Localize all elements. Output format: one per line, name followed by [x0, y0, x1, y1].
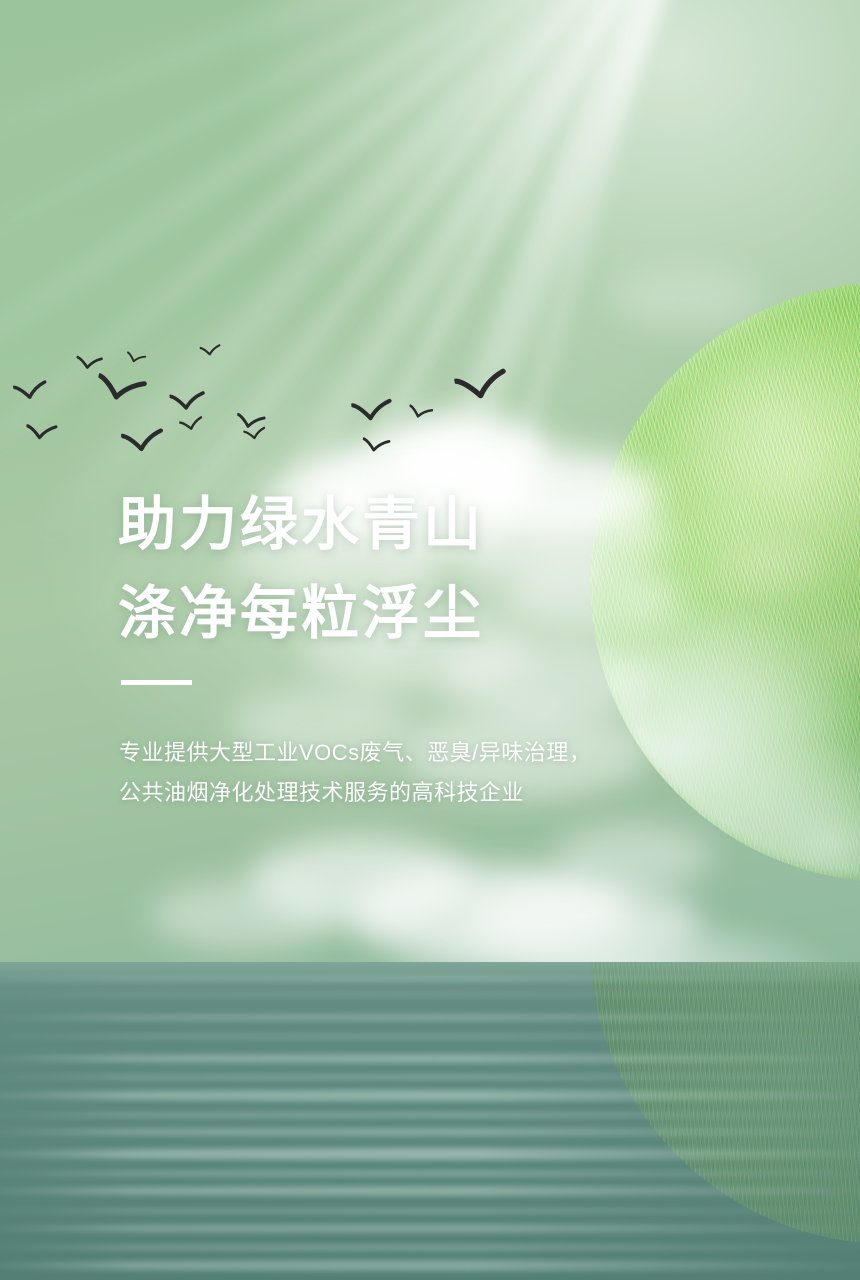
water-ripple-line [0, 1034, 860, 1039]
water-ripple-line [0, 1208, 860, 1214]
headline-line-1: 助力绿水青山 [118, 480, 738, 569]
headline-line-2: 涤净每粒浮尘 [118, 569, 738, 658]
water-ripple-line [0, 992, 860, 996]
white-rule-divider [121, 680, 192, 685]
water-ripple-line [0, 1148, 860, 1160]
water-ripple-line [0, 1128, 860, 1136]
water-ripple-line [0, 1074, 860, 1080]
water-ripple-line [0, 1224, 860, 1233]
subcopy-line-2: 公共油烟净化处理技术服务的高科技企业 [119, 773, 738, 813]
poster-canvas: 助力绿水青山 涤净每粒浮尘 专业提供大型工业VOCs废气、恶臭/异味治理， 公共… [0, 0, 860, 1280]
subcopy-line-1: 专业提供大型工业VOCs废气、恶臭/异味治理， [119, 733, 738, 773]
water-ripple-line [0, 1112, 860, 1118]
water-ripple-line [0, 1014, 860, 1021]
water-ripple-line [0, 976, 860, 981]
water-ripple-line [0, 1054, 860, 1063]
subtitle-text: 专业提供大型工业VOCs废气、恶臭/异味治理， 公共油烟净化处理技术服务的高科技… [119, 733, 738, 813]
water-ripples [0, 962, 860, 1280]
water-ripple-line [0, 1170, 860, 1177]
headline-block: 助力绿水青山 涤净每粒浮尘 专业提供大型工业VOCs废气、恶臭/异味治理， 公共… [118, 480, 738, 813]
page-title: 助力绿水青山 涤净每粒浮尘 [118, 480, 738, 658]
water-ripple-line [0, 1186, 860, 1196]
water-surface [0, 962, 860, 1280]
water-ripple-line [0, 1260, 860, 1271]
water-ripple-line [0, 1090, 860, 1101]
water-ripple-line [0, 1244, 860, 1251]
